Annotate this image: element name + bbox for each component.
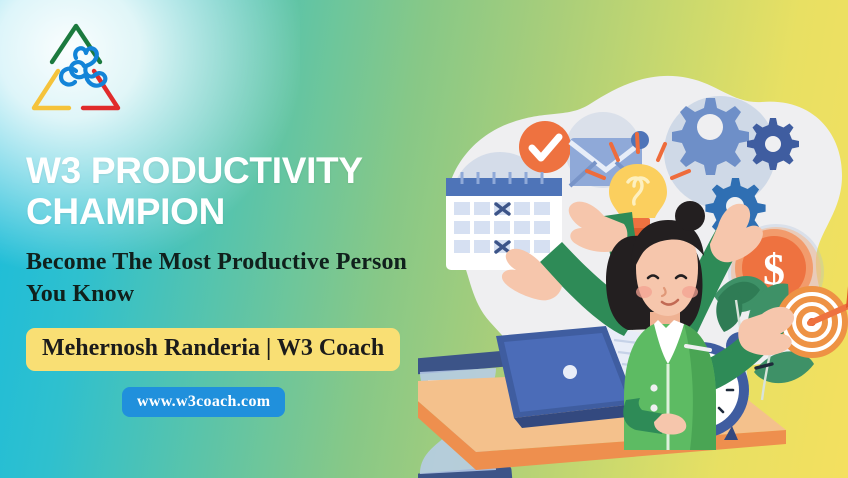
jacket-button-2: [650, 404, 657, 411]
page-title: W3 PRODUCTIVITY CHAMPION: [26, 150, 426, 233]
copy-block: W3 PRODUCTIVITY CHAMPION Become The Most…: [26, 150, 426, 417]
logo-triangle-left: [34, 71, 69, 108]
website-url-badge[interactable]: www.w3coach.com: [122, 387, 285, 418]
promo-banner: W3 PRODUCTIVITY CHAMPION Become The Most…: [0, 0, 848, 478]
multitasking-woman-illustration: $: [418, 0, 848, 478]
hair-bun: [675, 201, 705, 231]
url-badge-wrap: www.w3coach.com: [26, 387, 426, 418]
calendar-icon: [446, 172, 562, 270]
speaker-name-badge: Mehernosh Randeria | W3 Coach: [26, 328, 400, 370]
check-circle-icon: [519, 121, 571, 173]
w3-coach-logo[interactable]: [14, 18, 138, 122]
jacket-button-1: [650, 384, 657, 391]
subtitle: Become The Most Productive Person You Kn…: [26, 247, 426, 310]
